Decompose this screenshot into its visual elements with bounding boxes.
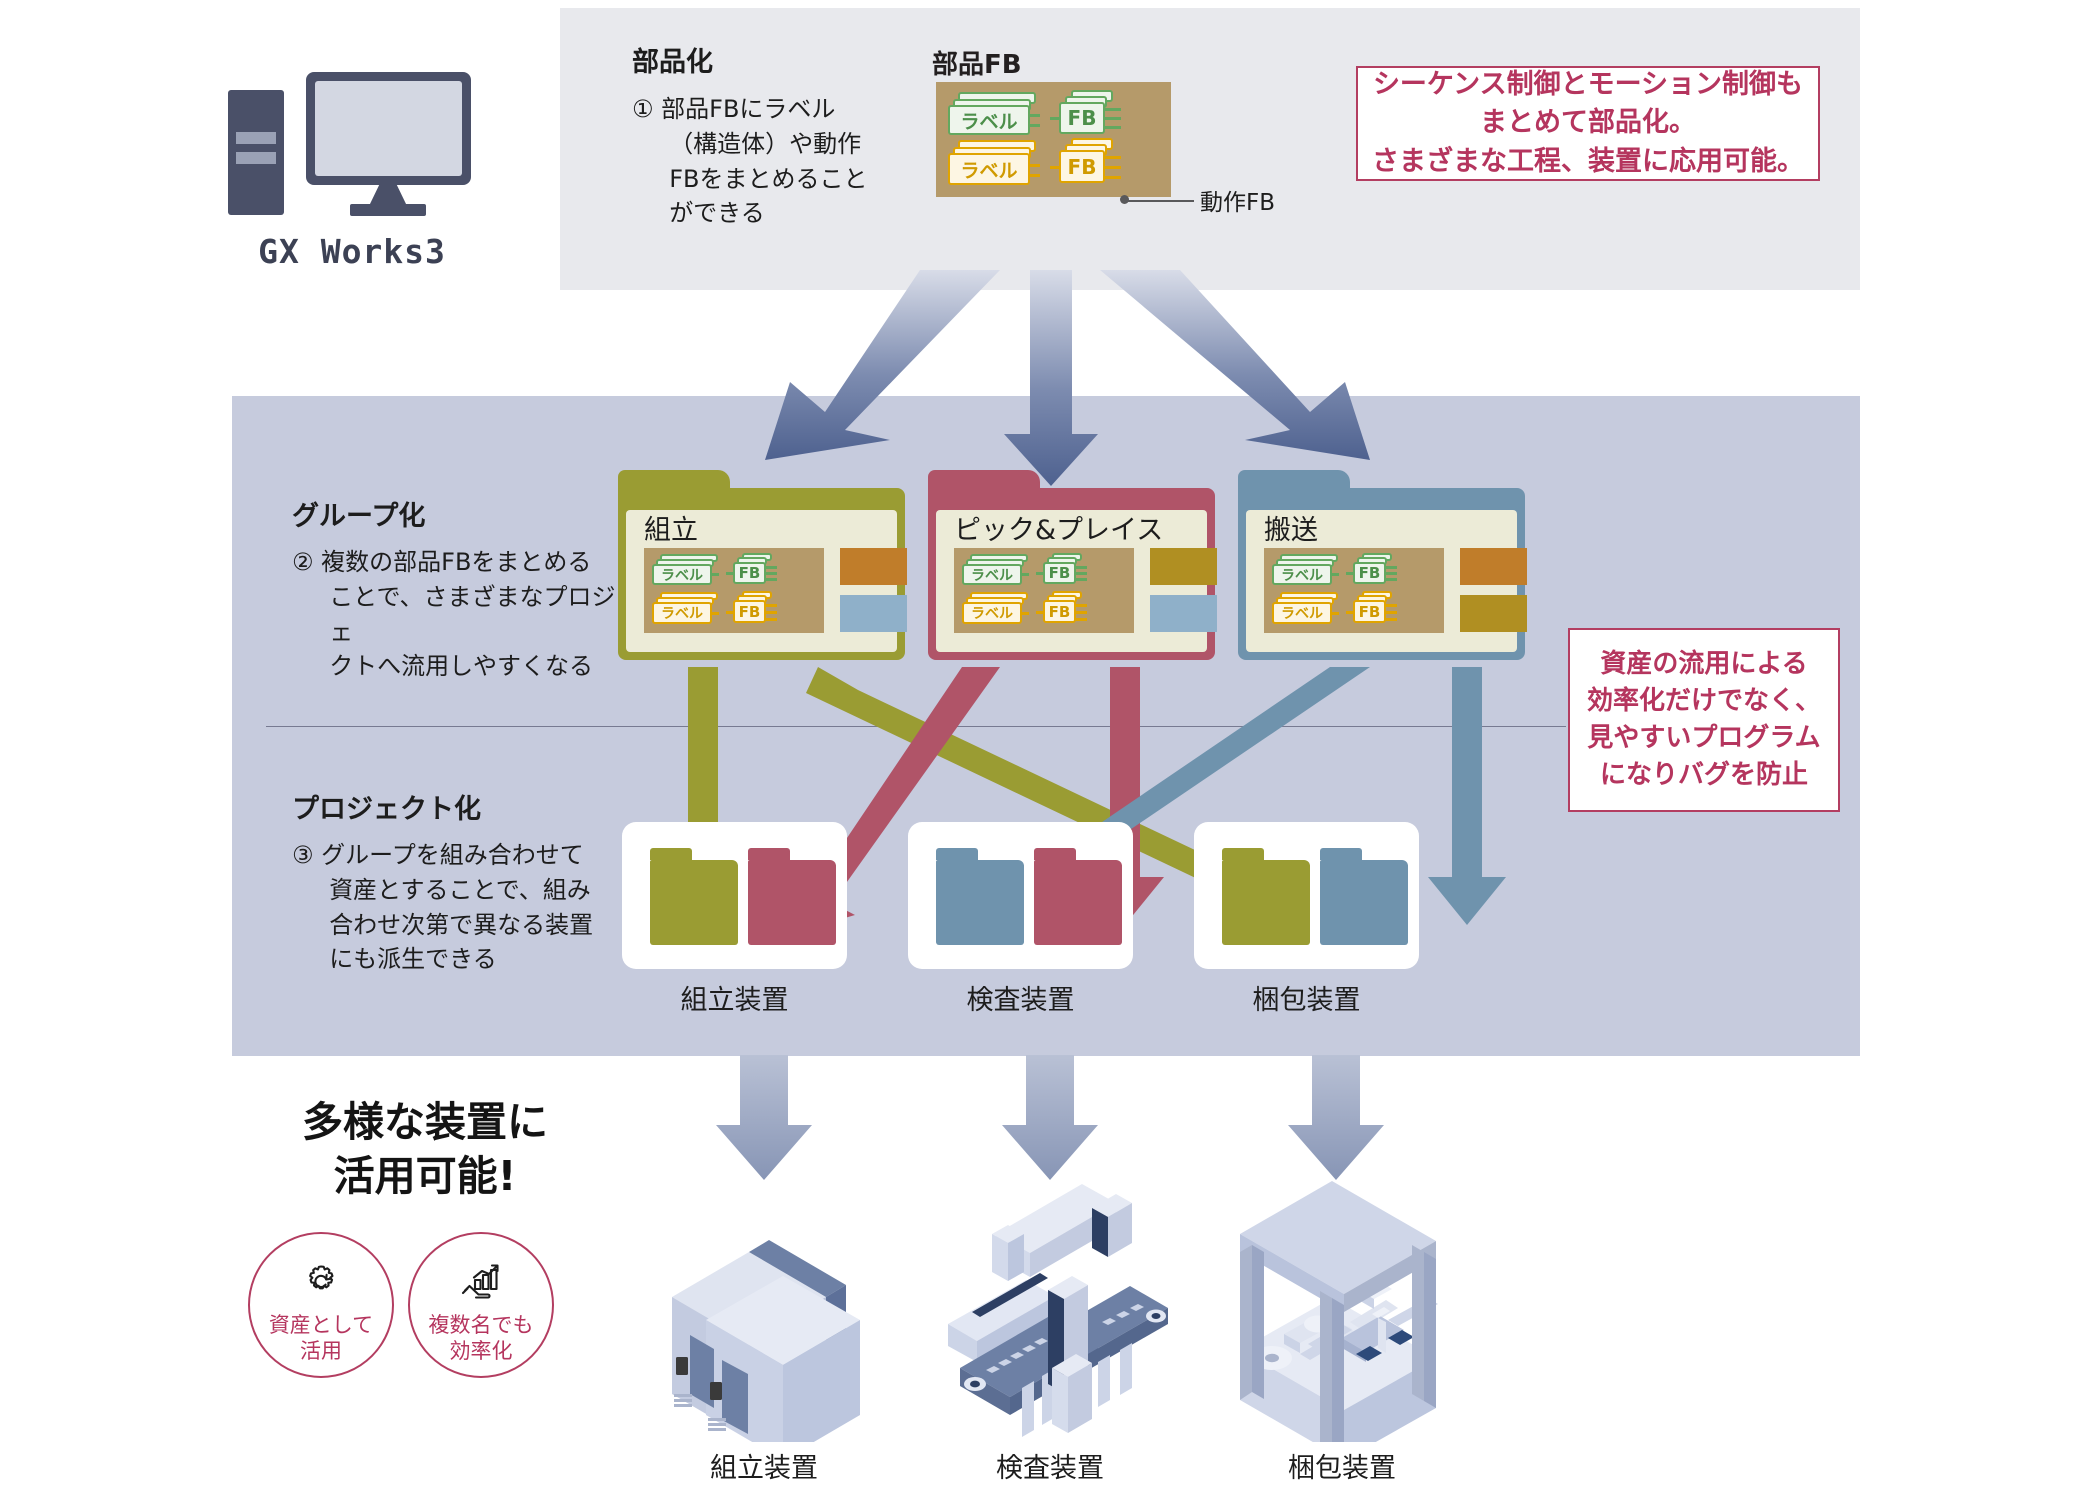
diagram-canvas: GX Works3 部品化 ① 部品FBにラベル （構造体）や動作 FBをまとめ…: [0, 0, 2100, 1501]
project-body-line: ③ グループを組み合わせて: [292, 838, 632, 873]
fb-card-stack-yellow: FB: [1043, 591, 1105, 627]
callout-line: まとめて部品化。: [1358, 104, 1818, 142]
assembly-machine-icon: [644, 1172, 894, 1442]
project-folder-left: [650, 848, 738, 948]
arrow-fb-to-group-center: [1004, 270, 1098, 486]
callout-line: になりバグを防止: [1570, 757, 1838, 794]
project-card-assembly[interactable]: [622, 822, 847, 969]
fb-card-text: FB: [1059, 102, 1105, 134]
project-card-inspection[interactable]: [908, 822, 1133, 969]
fb-card-text: FB: [733, 562, 766, 584]
project-card-caption: 梱包装置: [1194, 978, 1419, 1017]
project-section-title: プロジェクト化: [292, 793, 481, 827]
gear-refresh-icon: [299, 1260, 343, 1304]
project-body-line: 資産とすることで、組み: [292, 873, 632, 908]
fb-card-text: FB: [1353, 600, 1386, 623]
project-body-line: 合わせ次第で異なる装置: [292, 908, 632, 943]
label-card-stack-yellow: ラベル: [1272, 592, 1344, 626]
arrow-transport-to-packaging-device: [1428, 667, 1506, 925]
project-folder-right: [1320, 848, 1408, 948]
callout-parts-benefit: シーケンス制御とモーション制御も まとめて部品化。 さまざまな工程、装置に応用可…: [1356, 66, 1820, 181]
fb-card-text: FB: [1043, 600, 1076, 623]
label-card-stack-yellow: ラベル: [948, 140, 1043, 188]
arrow-fb-to-group-right: [1100, 270, 1370, 460]
group-body-number: ②: [292, 548, 314, 576]
callout-line: シーケンス制御とモーション制御も: [1358, 66, 1818, 104]
project-folder-left: [1222, 848, 1310, 948]
group-folder-assembly[interactable]: 組立 ラベル FB ラベル: [618, 470, 905, 670]
parts-body-line: FBをまとめること: [632, 162, 892, 197]
badge-label: 複数名でも 効率化: [410, 1312, 552, 1365]
label-card-stack-yellow: ラベル: [962, 592, 1034, 626]
group-body-line: クトへ流用しやすくなる: [292, 649, 622, 684]
fb-card-text: FB: [1043, 562, 1076, 584]
group-body-line: ② 複数の部品FBをまとめる: [292, 545, 622, 580]
fb-card-text: FB: [733, 600, 766, 623]
project-folder-right: [748, 848, 836, 948]
machine-caption: 梱包装置: [1222, 1446, 1462, 1485]
fb-card-stack-green: FB: [1043, 553, 1105, 588]
label-card-stack-green: ラベル: [652, 554, 724, 587]
label-card-stack-green: ラベル: [1272, 554, 1344, 587]
inspection-machine-icon: [930, 1172, 1180, 1442]
machine-caption: 組立装置: [644, 1446, 884, 1485]
label-card-text: ラベル: [652, 564, 712, 585]
project-folder-left: [936, 848, 1024, 948]
badge-label: 資産として 活用: [250, 1312, 392, 1365]
group-section-title: グループ化: [292, 500, 425, 534]
group-folder-name: ピック&プレイス: [954, 508, 1163, 547]
callout-line: 資産の流用による: [1570, 646, 1838, 683]
group-folder-pickplace[interactable]: ピック&プレイス ラベル FB ラベル: [928, 470, 1215, 670]
label-card-text: ラベル: [962, 564, 1022, 585]
leader-line: [1126, 200, 1194, 202]
group-swatch-bottom: [1150, 595, 1217, 632]
label-card-text: ラベル: [948, 153, 1030, 185]
project-card-caption: 組立装置: [622, 978, 847, 1017]
arrow-project-to-machine-3: [1288, 1055, 1384, 1180]
label-card-stack-green: ラベル: [948, 92, 1043, 138]
group-tan-box: ラベル FB ラベル FB: [644, 548, 824, 633]
label-card-text: ラベル: [948, 105, 1030, 135]
arrow-fb-to-group-left: [765, 270, 1000, 460]
parts-body-line: ① 部品FBにラベル: [632, 92, 892, 127]
pc-screen: [315, 81, 462, 176]
callout-asset-benefit: 資産の流用による 効率化だけでなく、 見やすいプログラム になりバグを防止: [1568, 628, 1840, 812]
motion-fb-label: 動作FB: [1200, 183, 1275, 217]
pc-monitor-base: [350, 204, 426, 216]
parts-section-title: 部品化: [632, 46, 713, 80]
parts-section-body: ① 部品FBにラベル （構造体）や動作 FBをまとめること ができる: [632, 92, 892, 231]
parts-body-line: ができる: [632, 196, 892, 231]
group-swatch-top: [840, 548, 907, 585]
project-card-caption: 検査装置: [908, 978, 1133, 1017]
fb-box-caption: 部品FB: [932, 44, 1022, 81]
project-folder-right: [1034, 848, 1122, 948]
parts-body-number: ①: [632, 95, 654, 123]
pc-monitor: [306, 72, 471, 185]
fb-card-text: FB: [1059, 150, 1105, 183]
callout-line: 見やすいプログラム: [1570, 720, 1838, 757]
arrow-project-to-machine-1: [716, 1055, 812, 1180]
fb-tan-box: ラベル FB ラベル FB: [936, 82, 1171, 197]
headline-line: 多様な装置に: [270, 1095, 580, 1149]
label-card-text: ラベル: [652, 602, 712, 624]
fb-card-stack-green: FB: [1059, 90, 1144, 140]
group-section-body: ② 複数の部品FBをまとめる ことで、さまざまなプロジェ クトへ流用しやすくなる: [292, 545, 622, 684]
fb-card-stack-green: FB: [1353, 553, 1415, 588]
project-section-body: ③ グループを組み合わせて 資産とすることで、組み 合わせ次第で異なる装置 にも…: [292, 838, 632, 977]
group-folder-name: 組立: [644, 508, 698, 547]
parts-body-line: （構造体）や動作: [632, 127, 892, 162]
label-card-stack-green: ラベル: [962, 554, 1034, 587]
fb-card-text: FB: [1353, 562, 1386, 584]
headline-line: 活用可能!: [270, 1149, 580, 1203]
group-tan-box: ラベル FB ラベル FB: [1264, 548, 1444, 633]
label-card-text: ラベル: [1272, 564, 1332, 585]
callout-line: さまざまな工程、装置に応用可能。: [1358, 143, 1818, 181]
group-folder-name: 搬送: [1264, 508, 1318, 547]
hand-bar-chart-icon: [458, 1260, 504, 1304]
group-tan-box: ラベル FB ラベル FB: [954, 548, 1134, 633]
badge-multi-person-efficiency[interactable]: 複数名でも 効率化: [408, 1232, 554, 1378]
arrow-project-to-machine-2: [1002, 1055, 1098, 1180]
label-card-text: ラベル: [962, 602, 1022, 624]
label-card-stack-yellow: ラベル: [652, 592, 724, 626]
group-folder-transport[interactable]: 搬送 ラベル FB ラベル: [1238, 470, 1525, 670]
group-swatch-bottom: [1460, 595, 1527, 632]
bottom-headline: 多様な装置に 活用可能!: [270, 1095, 580, 1203]
pc-drive-slot: [236, 132, 276, 144]
fb-card-stack-yellow: FB: [1059, 138, 1144, 190]
fb-card-stack-yellow: FB: [1353, 591, 1415, 627]
group-swatch-bottom: [840, 595, 907, 632]
packaging-machine-icon: [1222, 1172, 1472, 1442]
pc-tower: [228, 90, 284, 215]
machine-caption: 検査装置: [930, 1446, 1170, 1485]
fb-card-stack-green: FB: [733, 553, 795, 588]
pc-drive-slot: [236, 152, 276, 164]
callout-line: 効率化だけでなく、: [1570, 683, 1838, 720]
label-card-text: ラベル: [1272, 602, 1332, 624]
project-card-packaging[interactable]: [1194, 822, 1419, 969]
project-body-line: にも派生できる: [292, 942, 632, 977]
fb-card-stack-yellow: FB: [733, 591, 795, 627]
project-body-number: ③: [292, 841, 314, 869]
badge-asset-utilization[interactable]: 資産として 活用: [248, 1232, 394, 1378]
product-logo-text: GX Works3: [222, 232, 482, 271]
group-swatch-top: [1150, 548, 1217, 585]
pc-monitor-neck: [369, 184, 407, 206]
group-swatch-top: [1460, 548, 1527, 585]
group-body-line: ことで、さまざまなプロジェ: [292, 580, 622, 650]
